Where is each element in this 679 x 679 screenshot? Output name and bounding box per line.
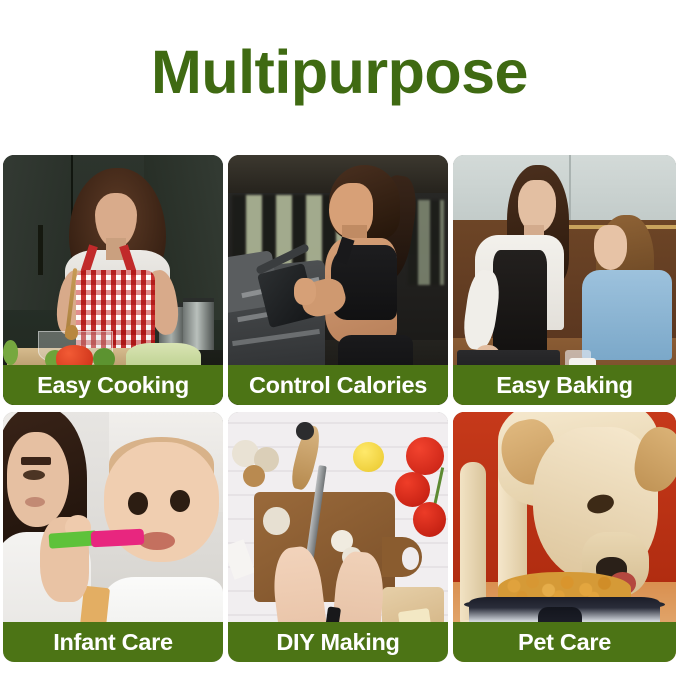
mother-lips <box>25 497 45 507</box>
tomato-1 <box>406 437 443 475</box>
reamer-top <box>296 422 314 440</box>
feature-card-diy-making[interactable]: DIY Making <box>228 412 448 662</box>
feature-card-grid: Easy Cooking <box>3 155 676 663</box>
mushroom-3 <box>243 465 265 488</box>
cooking-pot-front <box>183 298 214 352</box>
mother-eyebrow <box>21 457 52 465</box>
card-label-pet-care: Pet Care <box>453 622 676 662</box>
mushroom-4 <box>263 507 289 535</box>
woman-fist <box>294 278 316 306</box>
page-title: Multipurpose <box>0 36 679 108</box>
baby-right-eye <box>170 490 190 513</box>
tomato-3 <box>413 502 446 537</box>
card-label-diy-making: DIY Making <box>228 622 448 662</box>
card-label-infant-care: Infant Care <box>3 622 223 662</box>
mother-black-apron <box>493 250 547 355</box>
mother-face <box>7 432 69 527</box>
card-label-control-calories: Control Calories <box>228 365 448 405</box>
baby-left-eye <box>128 492 148 515</box>
card-label-easy-baking: Easy Baking <box>453 365 676 405</box>
feature-card-easy-cooking[interactable]: Easy Cooking <box>3 155 223 405</box>
feature-card-easy-baking[interactable]: Easy Baking <box>453 155 676 405</box>
mother-eye <box>23 470 45 480</box>
wall-rail <box>38 225 43 275</box>
cutting-board-hole <box>402 547 420 570</box>
cabinet-seam <box>569 155 571 223</box>
card-label-easy-cooking: Easy Cooking <box>3 365 223 405</box>
feature-card-pet-care[interactable]: Pet Care <box>453 412 676 662</box>
daughter-denim-jacket <box>582 270 671 360</box>
baby-mouth <box>139 532 174 550</box>
pink-spoon-head <box>91 528 145 547</box>
daughter-face <box>594 225 627 270</box>
lemon <box>353 442 384 472</box>
feature-card-infant-care[interactable]: Infant Care <box>3 412 223 662</box>
feature-card-control-calories[interactable]: Control Calories <box>228 155 448 405</box>
multipurpose-feature-grid: Multipurpose <box>0 0 679 679</box>
napkin <box>228 539 255 579</box>
